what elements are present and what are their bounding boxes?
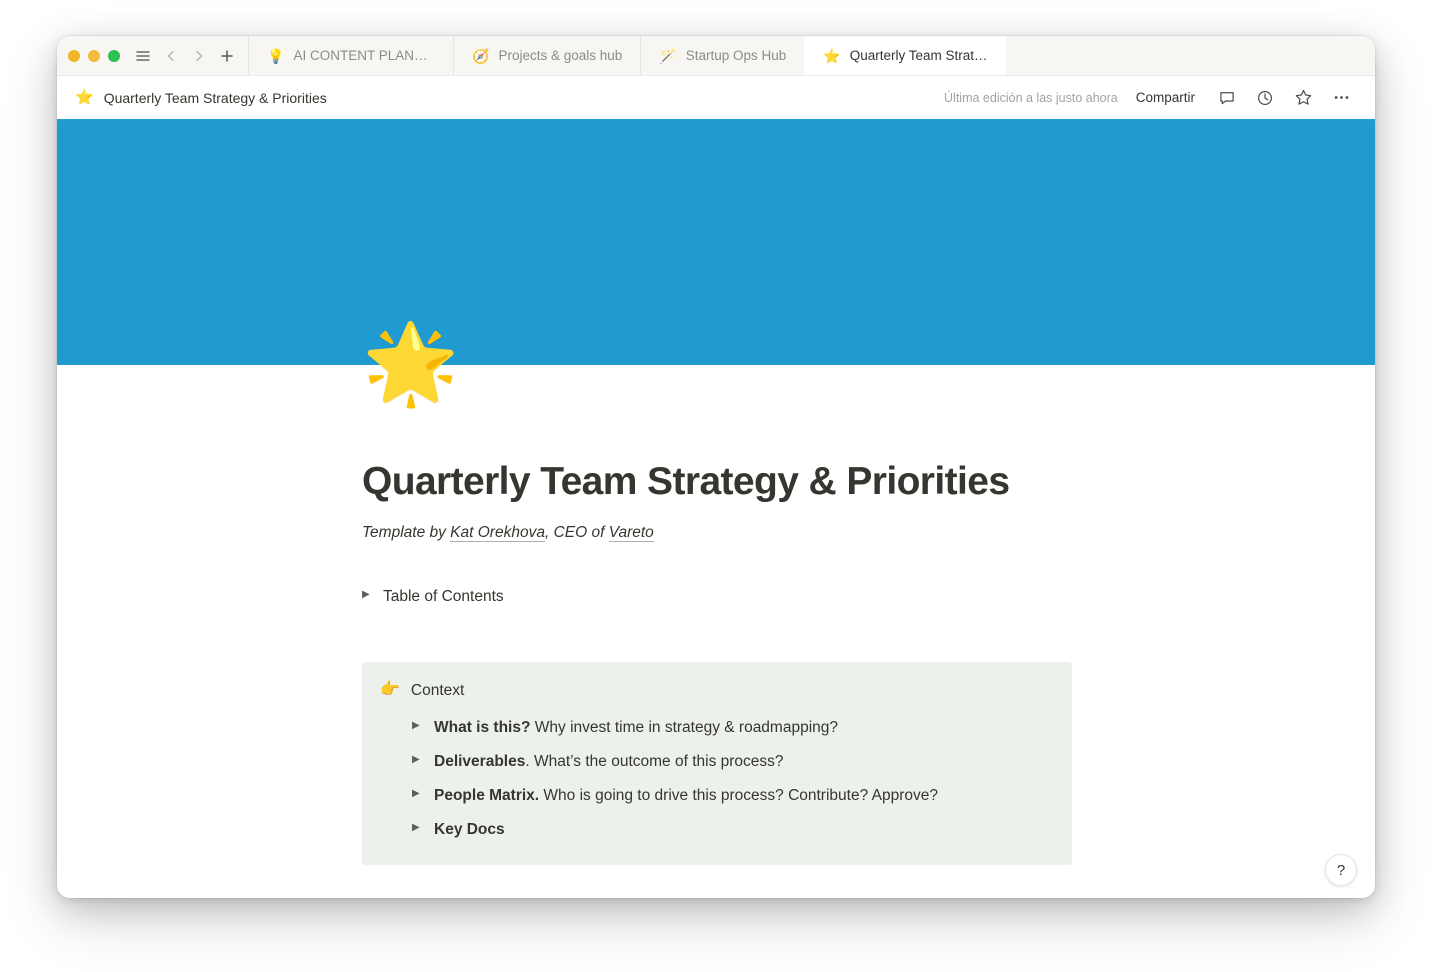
- callout-header: 👉 Context: [380, 679, 1054, 702]
- callout-toggle-list: ▶ What is this? Why invest time in strat…: [380, 711, 1054, 847]
- content-column: Quarterly Team Strategy & Priorities Tem…: [362, 460, 1070, 898]
- close-window-button[interactable]: [68, 50, 80, 62]
- callout-item-bold: Deliverables: [434, 753, 525, 770]
- pointing-hand-icon: 👉: [380, 679, 400, 701]
- callout-item-text: What is this? Why invest time in strateg…: [434, 716, 838, 740]
- chevron-right-icon[interactable]: ▶: [362, 590, 374, 600]
- page-content: Quarterly Team Strategy & Priorities Tem…: [57, 460, 1375, 898]
- chevron-right-icon[interactable]: ▶: [412, 755, 424, 765]
- tab-strip-empty-area: [1006, 36, 1376, 75]
- maximize-window-button[interactable]: [108, 50, 120, 62]
- tab-bar: 💡 AI CONTENT PLANNI… 🧭 Projects & goals …: [57, 36, 1375, 76]
- document-top-bar: ⭐ Quarterly Team Strategy & Priorities Ú…: [57, 76, 1375, 119]
- navigation-controls: [130, 36, 248, 75]
- chevron-right-icon[interactable]: ▶: [412, 721, 424, 731]
- byline-author-link[interactable]: Kat Orekhova: [450, 524, 545, 542]
- chevron-right-icon[interactable]: ▶: [412, 823, 424, 833]
- page-icon-star[interactable]: 🌟: [362, 324, 459, 402]
- help-button[interactable]: ?: [1325, 854, 1357, 886]
- page-cover-image[interactable]: [57, 119, 1375, 365]
- byline-prefix: Template by: [362, 524, 450, 541]
- page-scroll-area[interactable]: 🌟 Quarterly Team Strategy & Priorities T…: [57, 119, 1375, 898]
- byline: Template by Kat Orekhova, CEO of Vareto: [362, 521, 1070, 544]
- callout-item-text: Key Docs: [434, 818, 505, 842]
- chevron-right-icon[interactable]: ▶: [412, 789, 424, 799]
- callout-item-rest: Who is going to drive this process? Cont…: [539, 787, 938, 804]
- breadcrumb[interactable]: Quarterly Team Strategy & Priorities: [104, 90, 327, 106]
- tab-ai-content-planning[interactable]: 💡 AI CONTENT PLANNI…: [248, 36, 453, 75]
- callout-title: Context: [411, 679, 464, 702]
- hamburger-menu-icon[interactable]: [130, 43, 156, 69]
- tab-startup-ops-hub[interactable]: 🪄 Startup Ops Hub: [640, 36, 804, 75]
- callout-item-rest: . What’s the outcome of this process?: [525, 753, 783, 770]
- tab-label: AI CONTENT PLANNI…: [293, 48, 435, 63]
- browser-window: 💡 AI CONTENT PLANNI… 🧭 Projects & goals …: [57, 36, 1375, 898]
- callout-item-what-is-this[interactable]: ▶ What is this? Why invest time in strat…: [412, 711, 1054, 745]
- table-of-contents-label: Table of Contents: [383, 585, 504, 609]
- new-tab-plus-icon[interactable]: [214, 43, 240, 69]
- byline-middle: , CEO of: [545, 524, 609, 541]
- more-options-icon[interactable]: [1327, 84, 1355, 112]
- star-favorite-icon[interactable]: [1289, 84, 1317, 112]
- callout-item-deliverables[interactable]: ▶ Deliverables. What’s the outcome of th…: [412, 745, 1054, 779]
- minimize-window-button[interactable]: [88, 50, 100, 62]
- callout-item-people-matrix[interactable]: ▶ People Matrix. Who is going to drive t…: [412, 779, 1054, 813]
- share-button[interactable]: Compartir: [1128, 86, 1203, 109]
- callout-item-text: People Matrix. Who is going to drive thi…: [434, 784, 938, 808]
- tab-label: Quarterly Team Strat…: [850, 48, 988, 63]
- context-callout[interactable]: 👉 Context ▶ What is this? Why invest tim…: [362, 662, 1072, 865]
- callout-item-bold: What is this?: [434, 719, 530, 736]
- lightbulb-icon: 💡: [267, 49, 284, 63]
- tab-strip: 💡 AI CONTENT PLANNI… 🧭 Projects & goals …: [248, 36, 1375, 75]
- tab-label: Projects & goals hub: [498, 48, 622, 63]
- breadcrumb-star-icon: ⭐: [75, 90, 94, 105]
- comment-icon[interactable]: [1213, 84, 1241, 112]
- forward-chevron-right-icon[interactable]: [186, 43, 212, 69]
- table-of-contents-toggle[interactable]: ▶ Table of Contents: [362, 585, 1070, 609]
- history-icon[interactable]: [1251, 84, 1279, 112]
- star-icon: ⭐: [823, 49, 840, 63]
- back-chevron-left-icon[interactable]: [158, 43, 184, 69]
- callout-item-bold: People Matrix.: [434, 787, 539, 804]
- page-title[interactable]: Quarterly Team Strategy & Priorities: [362, 460, 1070, 504]
- tab-quarterly-team-strategy[interactable]: ⭐ Quarterly Team Strat…: [804, 36, 1005, 75]
- byline-company-link[interactable]: Vareto: [609, 524, 654, 542]
- callout-item-text: Deliverables. What’s the outcome of this…: [434, 750, 784, 774]
- callout-item-rest: Why invest time in strategy & roadmappin…: [530, 719, 838, 736]
- last-edited-status: Última edición a las justo ahora: [944, 91, 1118, 105]
- tab-projects-goals-hub[interactable]: 🧭 Projects & goals hub: [453, 36, 640, 75]
- window-controls: [57, 36, 130, 75]
- callout-item-bold: Key Docs: [434, 821, 505, 838]
- magic-wand-icon: 🪄: [659, 49, 676, 63]
- tab-label: Startup Ops Hub: [686, 48, 787, 63]
- compass-icon: 🧭: [472, 49, 489, 63]
- screen: 💡 AI CONTENT PLANNI… 🧭 Projects & goals …: [0, 0, 1432, 972]
- callout-item-key-docs[interactable]: ▶ Key Docs: [412, 813, 1054, 847]
